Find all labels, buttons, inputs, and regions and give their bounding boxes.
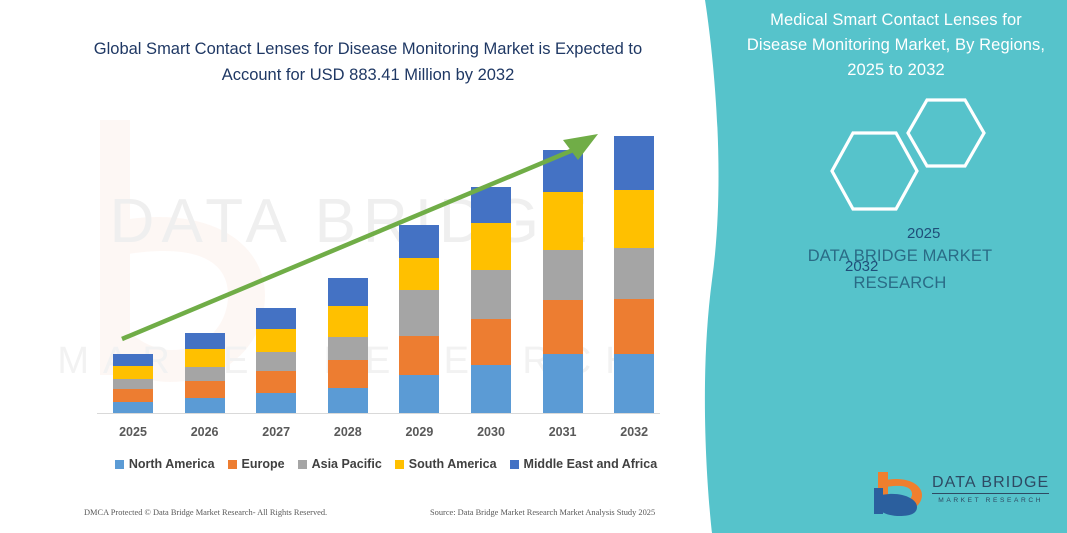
bar-column (614, 0, 654, 413)
bar-segment (543, 150, 583, 192)
bar-segment (113, 354, 153, 366)
bar-segment (614, 248, 654, 299)
x-axis-label: 2032 (604, 425, 664, 439)
footer-copyright: DMCA Protected © Data Bridge Market Rese… (84, 508, 327, 517)
bar-segment (113, 389, 153, 402)
legend-swatch-icon (395, 460, 404, 469)
x-axis-label: 2026 (175, 425, 235, 439)
bar-segment (471, 319, 511, 365)
bar-segment (185, 398, 225, 413)
bar-segment (471, 223, 511, 270)
bar-segment (614, 190, 654, 248)
logo-text-block: DATA BRIDGE MARKET RESEARCH (932, 474, 1049, 504)
x-axis-label: 2029 (389, 425, 449, 439)
panel-heading: Medical Smart Contact Lenses for Disease… (740, 8, 1052, 83)
bar-segment (185, 333, 225, 349)
bar-segment (614, 136, 654, 190)
legend-swatch-icon (510, 460, 519, 469)
x-axis-label: 2027 (246, 425, 306, 439)
legend-item: Asia Pacific (298, 457, 382, 471)
bar-segment (328, 360, 368, 388)
data-bridge-mark-icon (872, 470, 930, 516)
x-axis-label: 2025 (103, 425, 163, 439)
bar-segment (328, 388, 368, 413)
bar-segment (399, 290, 439, 336)
legend-label: South America (409, 457, 497, 471)
bar-segment (185, 381, 225, 398)
logo-name: DATA BRIDGE (932, 474, 1049, 494)
x-axis-label: 2030 (461, 425, 521, 439)
bar-segment (614, 299, 654, 354)
x-axis-label: 2028 (318, 425, 378, 439)
legend-label: Asia Pacific (312, 457, 382, 471)
legend-swatch-icon (298, 460, 307, 469)
legend-swatch-icon (115, 460, 124, 469)
bar-segment (113, 366, 153, 379)
bar-segment (399, 375, 439, 413)
legend-label: North America (129, 457, 215, 471)
hexagons-icon (790, 95, 1050, 215)
x-axis-line (97, 413, 672, 414)
bar-column (256, 0, 296, 413)
bar-segment (471, 187, 511, 223)
bar-segment (256, 329, 296, 352)
bar-segment (399, 258, 439, 290)
chart-legend: North AmericaEuropeAsia PacificSouth Ame… (97, 455, 675, 473)
bar-segment (543, 192, 583, 250)
bar-segment (256, 308, 296, 329)
legend-label: Middle East and Africa (524, 457, 658, 471)
bar-segment (185, 349, 225, 367)
bar-column (543, 0, 583, 413)
bar-segment (543, 250, 583, 300)
logo-subtitle: MARKET RESEARCH (932, 497, 1049, 504)
legend-swatch-icon (228, 460, 237, 469)
hexagon-label-near: 2025 (907, 225, 940, 242)
bar-segment (256, 352, 296, 371)
legend-item: North America (115, 457, 215, 471)
hexagon-group: 2025 2032 (790, 95, 1050, 215)
bar-segment (328, 337, 368, 360)
bar-column (185, 0, 225, 413)
bar-segment (399, 336, 439, 375)
bar-segment (256, 371, 296, 393)
bar-segment (328, 278, 368, 306)
bar-segment (543, 300, 583, 354)
legend-item: Middle East and Africa (510, 457, 658, 471)
bar-segment (113, 402, 153, 413)
bar-column (113, 0, 153, 413)
legend-label: Europe (242, 457, 285, 471)
panel-brand-line: DATA BRIDGE MARKET RESEARCH (760, 243, 1040, 297)
bar-column (471, 0, 511, 413)
bar-segment (471, 365, 511, 413)
bar-segment (113, 379, 153, 389)
company-logo: DATA BRIDGE MARKET RESEARCH (872, 470, 1057, 518)
bar-segment (328, 306, 368, 337)
bar-segment (256, 393, 296, 413)
footer-source: Source: Data Bridge Market Research Mark… (430, 508, 655, 517)
x-axis-label: 2031 (533, 425, 593, 439)
bar-segment (185, 367, 225, 381)
stacked-bar-chart: 20252026202720282029203020312032 North A… (0, 0, 700, 470)
legend-item: Europe (228, 457, 285, 471)
bar-segment (614, 354, 654, 413)
bar-column (399, 0, 439, 413)
bar-segment (399, 225, 439, 258)
bar-segment (471, 270, 511, 319)
bar-segment (543, 354, 583, 413)
legend-item: South America (395, 457, 497, 471)
bar-column (328, 0, 368, 413)
